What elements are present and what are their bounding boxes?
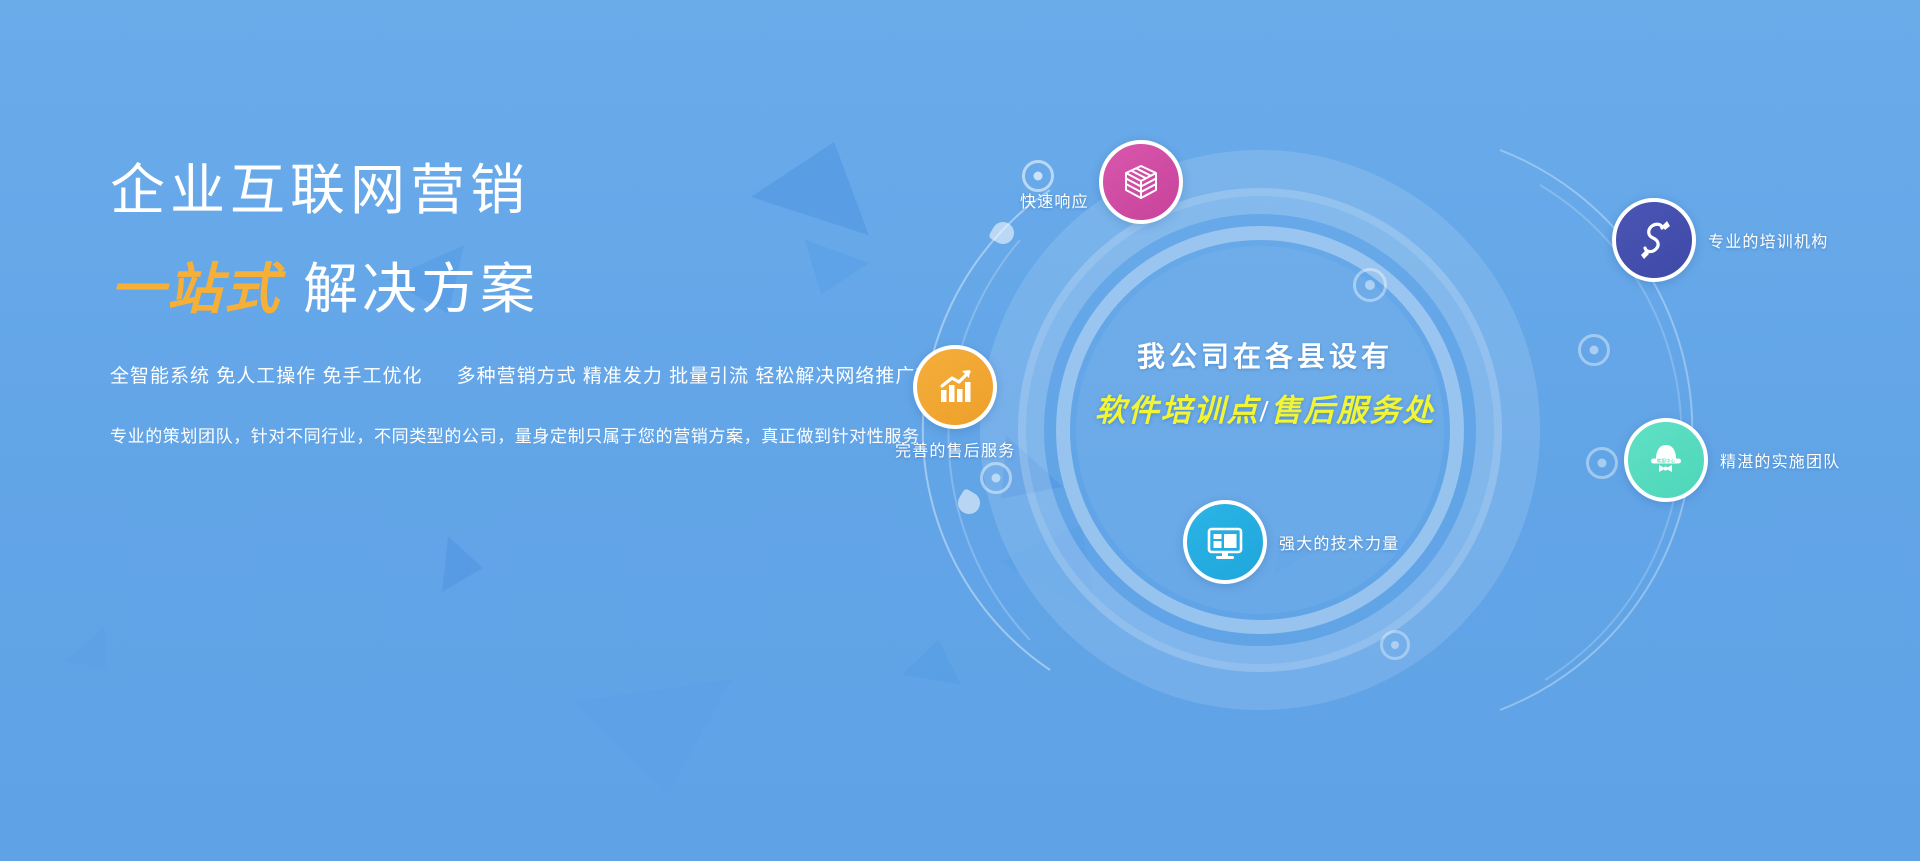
target-marker-icon — [980, 462, 1012, 494]
center-message-part1: 软件培训点 — [1095, 393, 1260, 428]
headline-block: 企业互联网营销 一站式解决方案 全智能系统 免人工操作 免手工优化多种营销方式 … — [110, 160, 990, 447]
pencil-s-icon — [1612, 198, 1696, 282]
feature-node-technology[interactable]: 强大的技术力量 — [1183, 500, 1399, 584]
target-marker-icon — [1353, 268, 1387, 302]
center-message-line1: 我公司在各县设有 — [1040, 335, 1490, 375]
growth-chart-icon — [913, 345, 997, 429]
support-hat-icon: 客服中心 — [1624, 418, 1708, 502]
feature-node-label: 专业的培训机构 — [1708, 228, 1828, 252]
feature-node-fast-response[interactable]: 快速响应 — [1020, 140, 1183, 224]
center-message-slash: / — [1260, 393, 1271, 428]
concentric-rings — [980, 150, 1540, 710]
decorative-triangle — [574, 679, 747, 804]
feature-node-label: 精湛的实施团队 — [1720, 448, 1840, 472]
feature-node-training[interactable]: 专业的培训机构 — [1612, 198, 1828, 282]
feature-node-after-sales[interactable]: 完善的售后服务 — [895, 345, 1015, 461]
cube-icon — [1099, 140, 1183, 224]
decorative-triangle — [442, 536, 486, 596]
decorative-triangle — [65, 627, 127, 686]
center-message-part2: 售后服务处 — [1270, 393, 1435, 428]
headline-accent-text: 一站式 — [110, 258, 281, 320]
feature-list-right: 多种营销方式 精准发力 批量引流 轻松解决网络推广难题 — [457, 366, 956, 387]
target-marker-icon — [1380, 630, 1410, 660]
support-hat-icon-caption: 客服中心 — [1657, 458, 1676, 465]
feature-node-label: 完善的售后服务 — [895, 437, 1015, 461]
feature-node-implementation[interactable]: 客服中心 精湛的实施团队 — [1624, 418, 1840, 502]
center-message: 我公司在各县设有 软件培训点/售后服务处 — [1040, 335, 1490, 430]
marketing-banner: 企业互联网营销 一站式解决方案 全智能系统 免人工操作 免手工优化多种营销方式 … — [0, 0, 1920, 861]
feature-list-left: 全智能系统 免人工操作 免手工优化 — [110, 366, 423, 387]
feature-node-label: 快速响应 — [1020, 188, 1089, 212]
center-message-line2: 软件培训点/售后服务处 — [1040, 385, 1490, 430]
headline-plain-text: 解决方案 — [303, 258, 539, 320]
target-marker-icon — [1578, 334, 1610, 366]
feature-node-label: 强大的技术力量 — [1279, 530, 1399, 554]
description-text: 专业的策划团队，针对不同行业，不同类型的公司，量身定制只属于您的营销方案，真正做… — [110, 422, 990, 447]
headline-primary: 企业互联网营销 — [110, 160, 990, 221]
target-marker-icon — [1586, 447, 1618, 479]
feature-list: 全智能系统 免人工操作 免手工优化多种营销方式 精准发力 批量引流 轻松解决网络… — [110, 361, 990, 388]
monitor-icon — [1183, 500, 1267, 584]
headline-secondary: 一站式解决方案 — [110, 259, 990, 320]
